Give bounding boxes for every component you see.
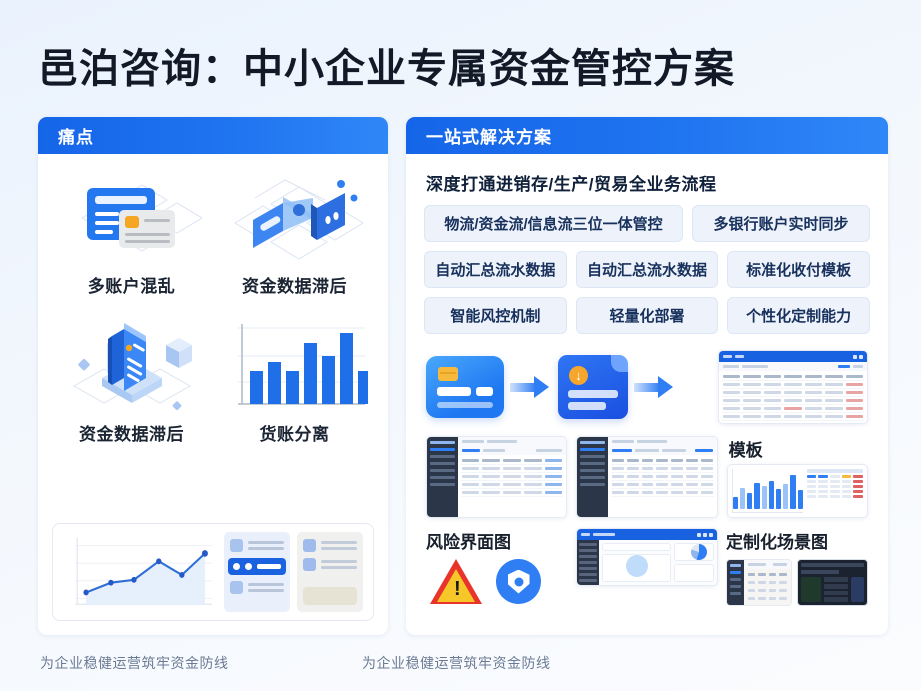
mock-sidebar bbox=[727, 560, 744, 605]
feature-pill[interactable]: 标准化收付模板 bbox=[727, 251, 870, 288]
mock-sidebar bbox=[577, 437, 608, 517]
feature-pill[interactable]: 个性化定制能力 bbox=[727, 297, 870, 334]
feature-pill-list: 物流/资金流/信息流三位一体管控 多银行账户实时同步 自动汇总流水数据 自动汇总… bbox=[424, 205, 870, 334]
mock-content bbox=[458, 437, 567, 517]
feature-pill-row: 物流/资金流/信息流三位一体管控 多银行账户实时同步 bbox=[424, 205, 870, 242]
pain-item-label: 资金数据滞后 bbox=[242, 272, 347, 297]
bar-chart-mock bbox=[732, 469, 803, 513]
risk-column: 风险界面图 ! bbox=[426, 528, 568, 604]
pain-item[interactable]: 多账户混乱 bbox=[52, 166, 211, 314]
template-section: 模板 bbox=[727, 436, 868, 518]
footer-left: 为企业稳健运营筑牢资金防线 bbox=[40, 653, 229, 673]
risk-label: 风险界面图 bbox=[426, 528, 568, 553]
mock-sidebar bbox=[577, 540, 599, 585]
solution-header: 一站式解决方案 bbox=[406, 117, 888, 154]
list-item bbox=[230, 539, 284, 552]
arrow-right-icon bbox=[634, 375, 676, 399]
feature-pill[interactable]: 物流/资金流/信息流三位一体管控 bbox=[424, 205, 683, 242]
page-title: 邑泊咨询：中小企业专属资金管控方案 bbox=[38, 36, 735, 94]
text-lines bbox=[321, 560, 357, 569]
dark-scene-mock bbox=[797, 559, 869, 606]
center-dashboard-column bbox=[576, 528, 718, 586]
avatar bbox=[303, 558, 316, 571]
avatar bbox=[233, 563, 240, 570]
pain-points-body: 多账户混乱 bbox=[38, 154, 388, 635]
feature-pill[interactable]: 多银行账户实时同步 bbox=[692, 205, 870, 242]
line-chart-icon bbox=[63, 532, 214, 612]
wallet-icon bbox=[215, 166, 374, 270]
avatar bbox=[230, 581, 243, 594]
bar-chart-icon bbox=[215, 314, 374, 418]
process-flow bbox=[426, 348, 868, 426]
mock-content bbox=[744, 560, 791, 605]
pain-item[interactable]: 资金数据滞后 bbox=[52, 314, 211, 462]
mock-content bbox=[608, 437, 717, 517]
custom-scene-column: 定制化场景图 bbox=[726, 528, 868, 606]
text-lines bbox=[321, 541, 357, 550]
avatar bbox=[230, 539, 243, 552]
feature-pill-row: 自动汇总流水数据 自动汇总流水数据 标准化收付模板 bbox=[424, 251, 870, 288]
template-chart-mock[interactable] bbox=[727, 464, 868, 518]
dashboard-mock-1[interactable] bbox=[426, 436, 567, 518]
pain-item[interactable]: 资金数据滞后 bbox=[215, 166, 374, 314]
dashboard-mock-2[interactable] bbox=[576, 436, 717, 518]
mock-sidebar bbox=[427, 437, 458, 517]
pain-item-label: 资金数据滞后 bbox=[79, 420, 184, 445]
warning-triangle-icon: ! bbox=[430, 559, 482, 604]
footer-right: 为企业稳健运营筑牢资金防线 bbox=[362, 653, 551, 673]
mock-title-bar bbox=[719, 351, 867, 362]
light-scene-mock bbox=[726, 559, 792, 606]
pain-item[interactable]: 货账分离 bbox=[215, 314, 374, 462]
card-footer-block bbox=[303, 587, 357, 605]
list-item bbox=[230, 581, 284, 594]
text-lines bbox=[248, 541, 284, 550]
list-item bbox=[303, 539, 357, 552]
template-label: 模板 bbox=[729, 436, 868, 461]
calendar-mock bbox=[807, 469, 863, 513]
feature-pill-row: 智能风控机制 轻量化部署 个性化定制能力 bbox=[424, 297, 870, 334]
custom-scene-label: 定制化场景图 bbox=[726, 528, 868, 553]
pain-item-label: 货账分离 bbox=[260, 420, 330, 445]
document-download-icon bbox=[558, 355, 628, 419]
text-lines bbox=[248, 583, 284, 592]
mini-dashboard-card[interactable] bbox=[52, 523, 374, 621]
list-card-primary[interactable] bbox=[224, 532, 290, 612]
text-lines bbox=[257, 564, 281, 569]
shield-icon bbox=[496, 559, 541, 604]
list-item bbox=[303, 558, 357, 571]
avatar bbox=[303, 539, 316, 552]
risk-icons: ! bbox=[426, 559, 568, 604]
analytics-dashboard-mock[interactable] bbox=[576, 528, 718, 586]
feature-pill[interactable]: 自动汇总流水数据 bbox=[424, 251, 567, 288]
list-item-selected[interactable] bbox=[228, 558, 286, 575]
list-card-secondary[interactable] bbox=[297, 532, 363, 612]
bank-card-icon bbox=[426, 356, 504, 418]
data-table-mock[interactable] bbox=[718, 350, 868, 424]
solution-subheading: 深度打通进销存/生产/贸易全业务流程 bbox=[426, 170, 874, 195]
feature-pill[interactable]: 轻量化部署 bbox=[576, 297, 719, 334]
solution-panel: 一站式解决方案 深度打通进销存/生产/贸易全业务流程 物流/资金流/信息流三位一… bbox=[406, 117, 888, 635]
pain-points-panel: 痛点 bbox=[38, 117, 388, 635]
pain-points-header: 痛点 bbox=[38, 117, 388, 154]
solution-body: 深度打通进销存/生产/贸易全业务流程 物流/资金流/信息流三位一体管控 多银行账… bbox=[406, 154, 888, 635]
custom-scene-mocks[interactable] bbox=[726, 559, 868, 606]
mock-table bbox=[719, 371, 867, 424]
screenshot-strip: 模板 bbox=[426, 436, 868, 518]
arrow-right-icon bbox=[510, 375, 552, 399]
mini-list-cards bbox=[224, 532, 363, 612]
document-stack-icon bbox=[52, 314, 211, 418]
feature-pill[interactable]: 智能风控机制 bbox=[424, 297, 567, 334]
mock-toolbar bbox=[719, 362, 867, 371]
pain-points-grid: 多账户混乱 bbox=[52, 166, 374, 462]
cards-icon bbox=[52, 166, 211, 270]
feature-pill[interactable]: 自动汇总流水数据 bbox=[576, 251, 719, 288]
bar-chart-svg bbox=[220, 316, 370, 416]
avatar bbox=[245, 563, 252, 570]
bottom-showcase-row: 风险界面图 ! bbox=[426, 528, 868, 635]
pain-item-label: 多账户混乱 bbox=[88, 272, 176, 297]
